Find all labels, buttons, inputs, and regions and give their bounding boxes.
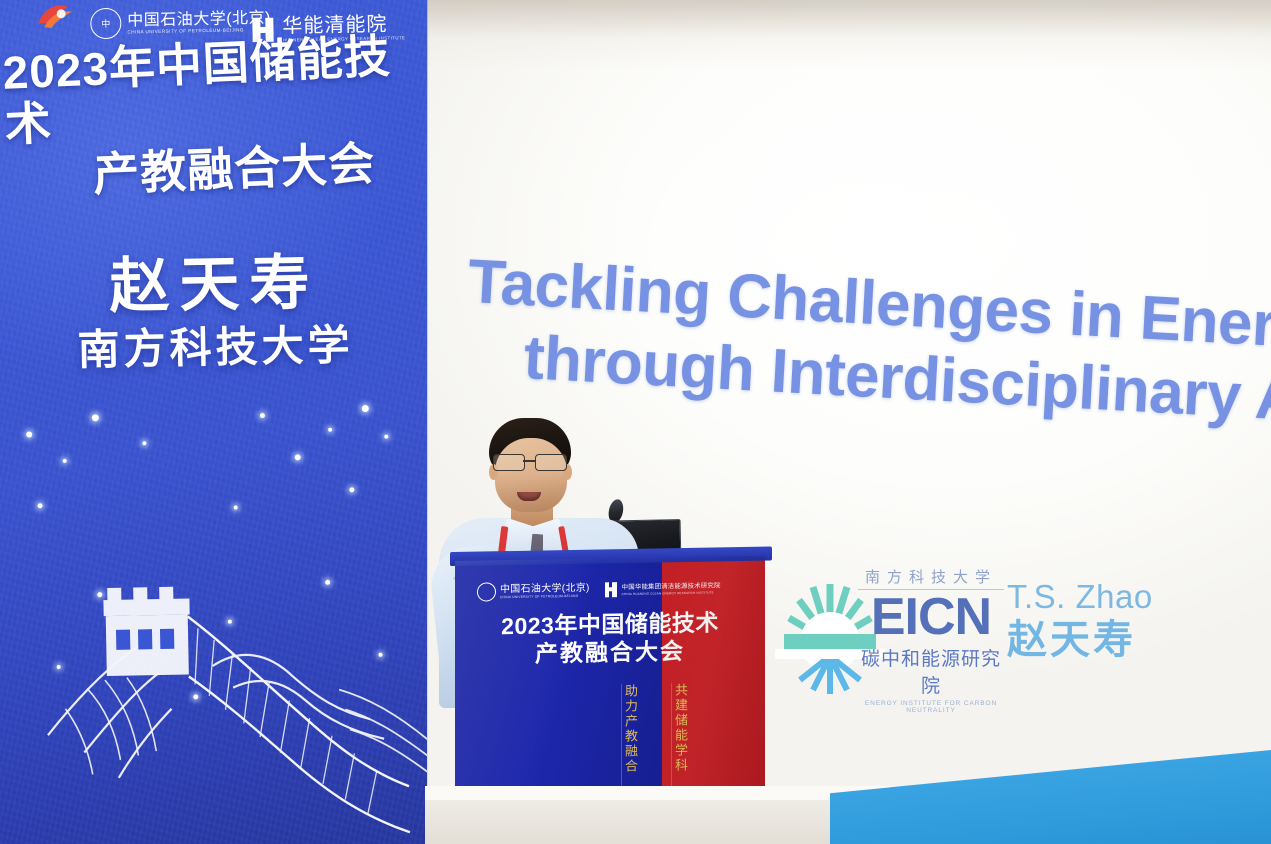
flame-svg [34,0,81,35]
eyeglass-bridge [523,460,535,462]
eicn-en-bottom: ENERGY INSTITUTE FOR CARBON NEUTRALITY [858,700,1004,714]
eyeglass-lens-left [493,454,525,471]
banner-speaker-name: 赵天寿 [29,246,400,323]
slide-speaker-tag: T.S. Zhao 赵天寿 [1007,578,1153,664]
slide-speaker-name-cn: 赵天寿 [1007,616,1153,664]
great-wall-svg [0,532,427,844]
eicn-cn-top: 南方科技大学 [858,566,1004,587]
eicn-wordmark: EICN [858,591,1004,643]
great-wall-illustration [0,532,427,844]
eicn-logo: 南方科技大学 EICN 碳中和能源研究院 ENERGY INSTITUTE FO… [858,566,1004,714]
flame-emblem-icon [34,0,81,35]
banner-headline-line1: 2023年中国储能技术 [2,29,406,150]
eyeglass-lens-right [535,454,567,471]
banner-headline: 2023年中国储能技术 产教融合大会 [3,34,406,200]
stage-skirt-fabric [830,743,1271,844]
slide-speaker-name-en: T.S. Zhao [1007,578,1153,616]
cup-seal-icon: 中 [90,8,122,40]
screen-top-shading [425,0,1271,70]
banner-headline-line2: 产教融合大会 [92,135,406,201]
stage-floor-left [425,800,835,844]
conference-photo-scene: Tackling Challenges in Energy Storage th… [0,0,1271,844]
banner-speaker-org: 南方科技大学 [30,316,401,379]
eyeglasses-icon [491,454,571,470]
banner-speaker-block: 赵天寿 南方科技大学 [29,246,401,379]
conference-backdrop-banner: 中 中国石油大学(北京) CHINA UNIVERSITY OF PETROLE… [0,0,427,844]
cup-logo: 中 中国石油大学(北京) CHINA UNIVERSITY OF PETROLE… [90,5,271,39]
stage-skirt [830,742,1271,844]
banner-content: 中 中国石油大学(北京) CHINA UNIVERSITY OF PETROLE… [0,0,427,844]
eicn-cn-bottom: 碳中和能源研究院 [858,644,1004,698]
